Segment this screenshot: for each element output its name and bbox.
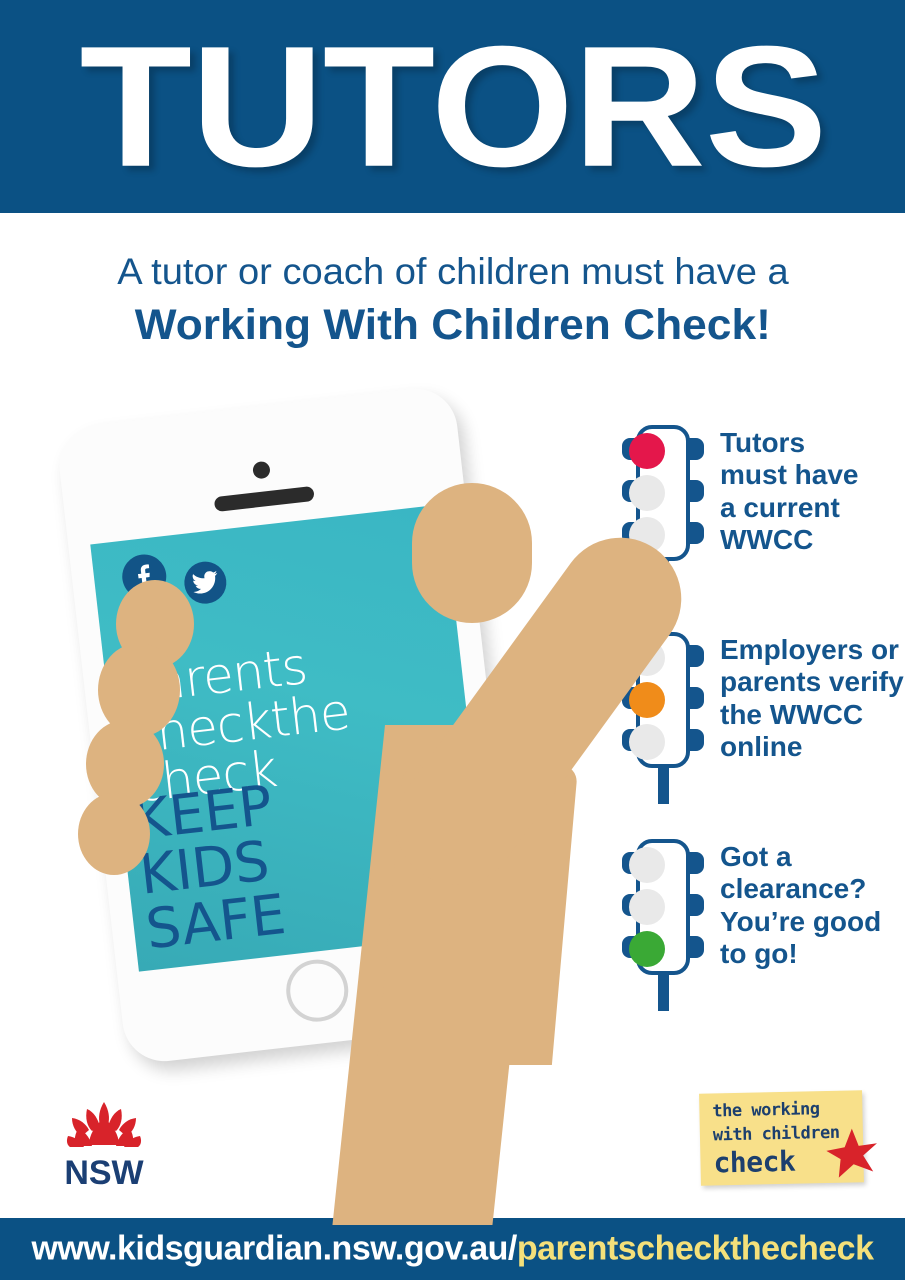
- footer-url[interactable]: www.kidsguardian.nsw.gov.au/parentscheck…: [0, 1230, 905, 1269]
- traffic-light-item-green: Got a clearance? You’re good to go!: [620, 839, 900, 1011]
- caption-line: parents verify: [720, 666, 904, 698]
- traffic-light-stem: [658, 762, 669, 804]
- phone-home-button[interactable]: [283, 956, 352, 1025]
- caption-line: You’re good: [720, 906, 881, 938]
- lamp-red: [629, 433, 665, 469]
- phone-speaker-icon: [214, 486, 315, 512]
- page-title: TUTORS: [0, 22, 905, 191]
- footer-url-domain: www.kidsguardian.nsw.gov.au/: [31, 1230, 516, 1268]
- traffic-light-list: Tutors must have a current WWCC: [620, 425, 900, 1046]
- fingertip-4: [78, 793, 150, 875]
- caption-line: the WWCC: [720, 699, 904, 731]
- caption-line: a current: [720, 492, 859, 524]
- lamp-green: [629, 724, 665, 760]
- thumb-tip-shape: [412, 483, 532, 623]
- traffic-light-icon-green: [620, 839, 706, 1011]
- traffic-light-caption-red: Tutors must have a current WWCC: [720, 425, 859, 557]
- subtitle-line-1-text: A tutor or coach of children must have a: [117, 250, 789, 294]
- lamp-green: [629, 931, 665, 967]
- traffic-light-caption-amber: Employers or parents verify the WWCC onl…: [720, 632, 904, 764]
- page-title-text: TUTORS: [79, 22, 826, 191]
- badge-line-2: with children: [713, 1123, 840, 1146]
- lamp-amber: [629, 889, 665, 925]
- badge-line-1: the working: [712, 1099, 819, 1121]
- working-with-children-check-badge: the working with children check: [699, 1090, 864, 1185]
- caption-line: must have: [720, 459, 859, 491]
- caption-line: WWCC: [720, 524, 859, 556]
- subtitle-line-2-text: Working With Children Check!: [134, 299, 770, 353]
- traffic-light-stem: [658, 969, 669, 1011]
- subtitle-line-1: A tutor or coach of children must have a: [0, 250, 905, 294]
- caption-line: to go!: [720, 938, 881, 970]
- nsw-logo-text: NSW: [44, 1156, 164, 1190]
- header-banner: TUTORS: [0, 0, 905, 213]
- star-icon: [825, 1126, 880, 1181]
- nsw-government-logo: NSW: [44, 1098, 164, 1190]
- caption-line: clearance?: [720, 873, 881, 905]
- lamp-red: [629, 847, 665, 883]
- caption-line: Got a: [720, 841, 881, 873]
- traffic-light-item-amber: Employers or parents verify the WWCC onl…: [620, 632, 900, 804]
- footer-url-path: parentscheckthecheck: [517, 1230, 874, 1268]
- poster-root: TUTORS A tutor or coach of children must…: [0, 0, 905, 1280]
- lamp-amber: [629, 682, 665, 718]
- slogan-line-3: SAFE: [143, 887, 288, 957]
- subtitle-block: A tutor or coach of children must have a…: [0, 250, 905, 353]
- subtitle-line-2: Working With Children Check!: [0, 299, 905, 353]
- waratah-icon: [44, 1098, 164, 1158]
- footer-bar: www.kidsguardian.nsw.gov.au/parentscheck…: [0, 1218, 905, 1280]
- badge-line-3: check: [713, 1145, 795, 1180]
- phone-camera-icon: [252, 461, 271, 480]
- caption-line: online: [720, 731, 904, 763]
- caption-line: Tutors: [720, 427, 859, 459]
- caption-line: Employers or: [720, 634, 904, 666]
- traffic-light-caption-green: Got a clearance? You’re good to go!: [720, 839, 881, 971]
- slogan-text: KEEP KIDS SAFE: [131, 778, 289, 958]
- lamp-amber: [629, 475, 665, 511]
